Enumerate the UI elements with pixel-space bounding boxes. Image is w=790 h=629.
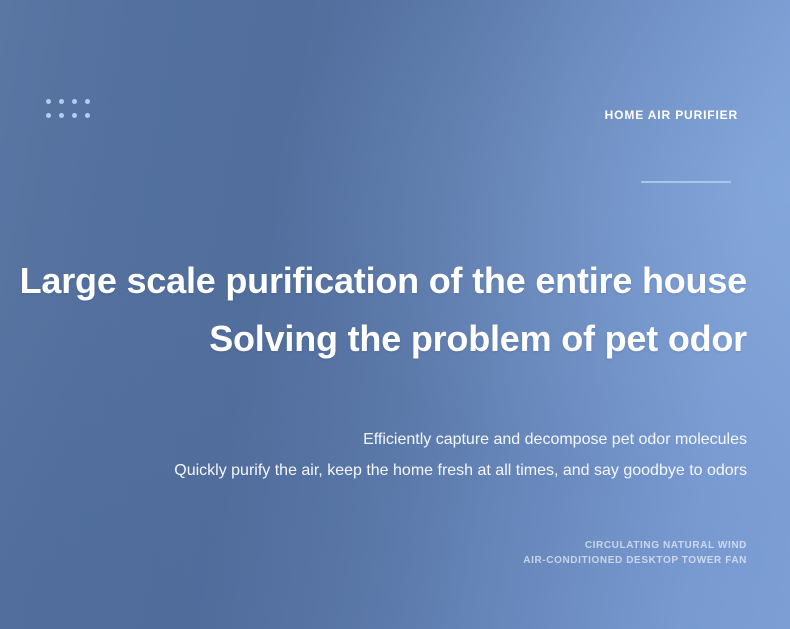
headline-line-1: Large scale purification of the entire h… — [20, 252, 747, 310]
accent-divider — [641, 181, 731, 183]
headline-line-2: Solving the problem of pet odor — [20, 310, 747, 368]
dot-icon — [46, 113, 51, 118]
subcopy: Efficiently capture and decompose pet od… — [174, 424, 747, 486]
dot-icon — [46, 99, 51, 104]
subcopy-line-1: Efficiently capture and decompose pet od… — [174, 424, 747, 455]
dot-icon — [59, 99, 64, 104]
dot-icon — [59, 113, 64, 118]
footer-tagline-line-1: CIRCULATING NATURAL WIND — [523, 538, 747, 553]
footer-tagline-line-2: AIR-CONDITIONED DESKTOP TOWER FAN — [523, 553, 747, 568]
footer-tagline: CIRCULATING NATURAL WIND AIR-CONDITIONED… — [523, 538, 747, 568]
subcopy-line-2: Quickly purify the air, keep the home fr… — [174, 455, 747, 486]
headline: Large scale purification of the entire h… — [20, 252, 747, 368]
promo-banner: HOME AIR PURIFIER Large scale purificati… — [0, 0, 790, 629]
dot-icon — [85, 113, 90, 118]
dot-grid-decoration — [46, 99, 90, 118]
dot-icon — [72, 113, 77, 118]
product-category-label: HOME AIR PURIFIER — [605, 108, 738, 122]
dot-icon — [72, 99, 77, 104]
dot-icon — [85, 99, 90, 104]
